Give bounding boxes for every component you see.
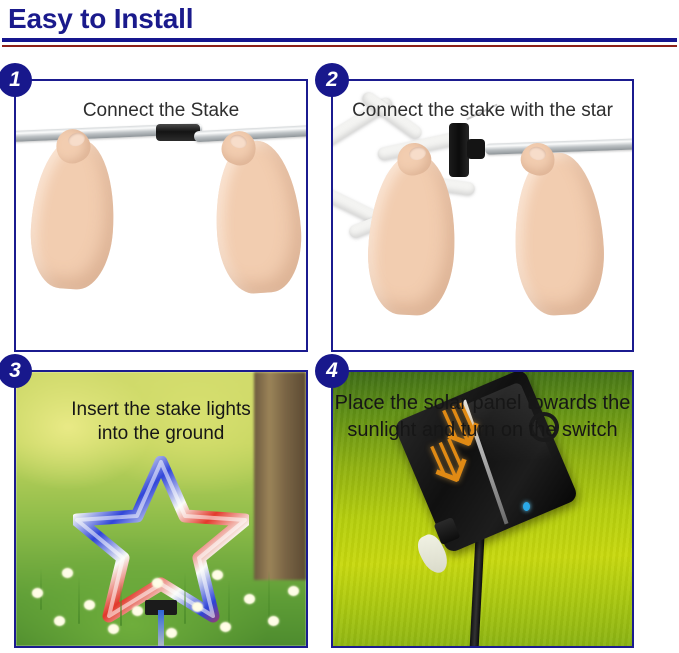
black-connector-nose (467, 139, 485, 159)
led-indicator (523, 502, 530, 511)
grass-blade (120, 582, 122, 626)
step-panel-3: Insert the stake lights into the ground … (14, 370, 308, 648)
step-panel-1: Connect the Stake 1 (14, 79, 308, 352)
red-white-blue-star-light (73, 456, 249, 624)
title-rule-red (2, 45, 677, 47)
white-flower (220, 622, 231, 632)
title-rule-navy (2, 38, 677, 42)
white-flower (152, 578, 163, 588)
white-flower (212, 570, 223, 580)
white-flower (32, 588, 43, 598)
white-flower (108, 624, 119, 634)
step-panel-2: Connect the stake with the star 2 (331, 79, 634, 352)
step-panel-4: ⤋ ⤋ Place the solar panel towards the su… (331, 370, 634, 648)
grass-blade (78, 576, 80, 624)
white-flower (192, 602, 203, 612)
white-flower (244, 594, 255, 604)
grass-blade (228, 580, 230, 626)
left-hand (365, 153, 459, 317)
right-hand (211, 138, 305, 295)
white-flower (62, 568, 73, 578)
step-3-caption: Insert the stake lights into the ground (16, 398, 306, 446)
grass-blade (184, 572, 186, 624)
white-flower (54, 616, 65, 626)
page-title: Easy to Install (8, 2, 193, 36)
stake-pole (158, 610, 164, 646)
white-flower (132, 606, 143, 616)
step-1-caption: Connect the Stake (16, 99, 306, 123)
step-badge-4: 4 (315, 354, 349, 388)
white-flower (268, 616, 279, 626)
grass-blade (268, 570, 270, 620)
step-4-caption: Place the solar panel towards the sunlig… (333, 390, 632, 444)
step-2-caption: Connect the stake with the star (333, 99, 632, 123)
right-hand (511, 151, 607, 317)
white-flower (84, 600, 95, 610)
step-badge-2: 2 (315, 63, 349, 97)
black-connector (449, 123, 469, 177)
white-flower (288, 586, 299, 596)
white-flower (166, 628, 177, 638)
